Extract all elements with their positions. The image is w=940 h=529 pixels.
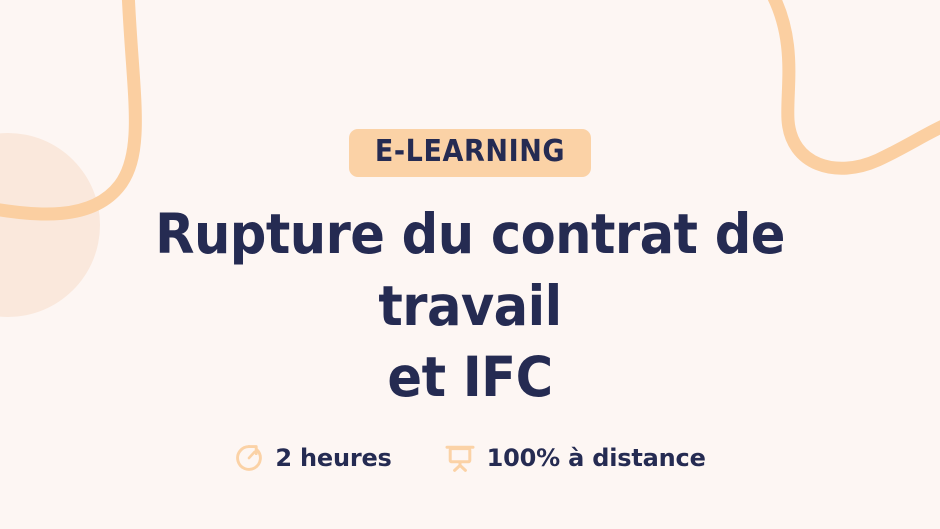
page-title-line-2: et IFC bbox=[70, 342, 870, 414]
category-badge: E-LEARNING bbox=[349, 129, 591, 177]
meta-row: 2 heures 100% à distance bbox=[234, 443, 705, 473]
page-title-line-1: Rupture du contrat de travail bbox=[70, 199, 870, 342]
meta-label-duration: 2 heures bbox=[275, 446, 391, 470]
meta-item-format: 100% à distance bbox=[444, 443, 706, 473]
page-title: Rupture du contrat de travail et IFC bbox=[70, 199, 870, 414]
presentation-screen-icon bbox=[444, 443, 476, 473]
timer-icon bbox=[234, 443, 264, 473]
meta-label-format: 100% à distance bbox=[487, 446, 706, 470]
meta-item-duration: 2 heures bbox=[234, 443, 391, 473]
course-banner-card: E-LEARNING Rupture du contrat de travail… bbox=[0, 0, 940, 529]
banner-content: E-LEARNING Rupture du contrat de travail… bbox=[0, 0, 940, 529]
